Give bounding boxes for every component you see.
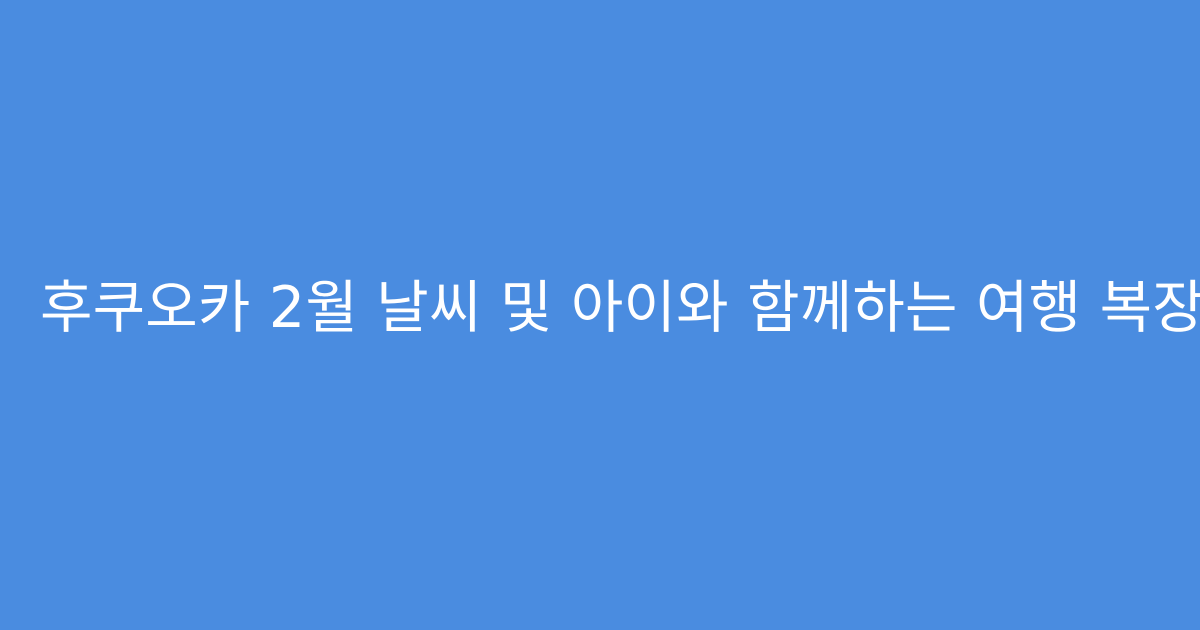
page-title: 후쿠오카 2월 날씨 및 아이와 함께하는 여행 복장 xyxy=(40,274,1160,344)
share-card: 후쿠오카 2월 날씨 및 아이와 함께하는 여행 복장 xyxy=(0,0,1200,630)
headline-container: 후쿠오카 2월 날씨 및 아이와 함께하는 여행 복장 xyxy=(0,0,1200,618)
